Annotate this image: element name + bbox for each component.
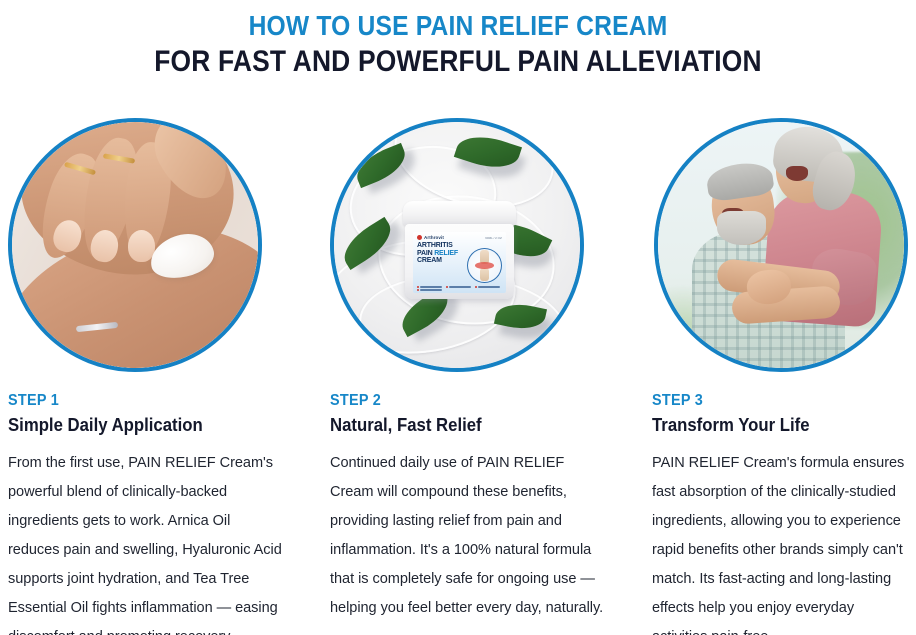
step-1-column: STEP 1 Simple Daily Application From the… — [8, 392, 294, 635]
step-3-label: STEP 3 — [652, 392, 890, 410]
knee-joint-icon — [467, 248, 502, 283]
headline-line-1: HOW TO USE PAIN RELIEF CREAM — [55, 10, 861, 42]
pain-flare-shape — [475, 262, 494, 269]
step-3-title: Transform Your Life — [652, 414, 898, 436]
bone-shape — [480, 268, 489, 281]
how-to-use-section: HOW TO USE PAIN RELIEF CREAM FOR FAST AN… — [0, 0, 916, 635]
step-1-title: Simple Daily Application — [8, 414, 274, 436]
page-title: HOW TO USE PAIN RELIEF CREAM FOR FAST AN… — [0, 0, 916, 80]
brand-name: Arthrovit — [424, 235, 444, 240]
image-hands-applying-cream — [12, 122, 258, 368]
label-bullet — [446, 286, 471, 288]
step-1-label: STEP 1 — [8, 392, 265, 410]
man-beard — [717, 211, 766, 245]
step-1-image-circle — [8, 118, 262, 372]
brand-row: Arthrovit 60ML / 2 OZ — [417, 235, 502, 240]
jar-lid — [403, 201, 516, 227]
brand-mark-icon — [417, 235, 422, 240]
step-3-body: PAIN RELIEF Cream's formula ensures fast… — [652, 448, 908, 635]
step-images-row: Arthrovit 60ML / 2 OZ ARTHRITIS PAIN REL… — [0, 118, 916, 376]
headline-line-2: FOR FAST AND POWERFUL PAIN ALLEVIATION — [55, 44, 861, 80]
jar-label: Arthrovit 60ML / 2 OZ ARTHRITIS PAIN REL… — [413, 232, 506, 293]
step-3-column: STEP 3 Transform Your Life PAIN RELIEF C… — [652, 392, 916, 635]
step-2-label: STEP 2 — [330, 392, 587, 410]
label-bullet — [475, 286, 500, 288]
label-benefit-bullets — [417, 286, 502, 291]
step-2-column: STEP 2 Natural, Fast Relief Continued da… — [330, 392, 616, 622]
image-senior-couple-outdoors — [658, 122, 904, 368]
woman-mouth — [786, 166, 808, 181]
step-2-title: Natural, Fast Relief — [330, 414, 596, 436]
net-weight: 60ML / 2 OZ — [485, 236, 502, 240]
step-2-body: Continued daily use of PAIN RELIEF Cream… — [330, 448, 607, 622]
label-bullet — [417, 286, 442, 288]
step-3-image-circle — [654, 118, 908, 372]
step-1-body: From the first use, PAIN RELIEF Cream's … — [8, 448, 285, 635]
product-jar: Arthrovit 60ML / 2 OZ ARTHRITIS PAIN REL… — [403, 201, 516, 299]
label-bullet — [417, 289, 442, 291]
image-product-jar-on-water: Arthrovit 60ML / 2 OZ ARTHRITIS PAIN REL… — [334, 122, 580, 368]
step-2-image-circle: Arthrovit 60ML / 2 OZ ARTHRITIS PAIN REL… — [330, 118, 584, 372]
